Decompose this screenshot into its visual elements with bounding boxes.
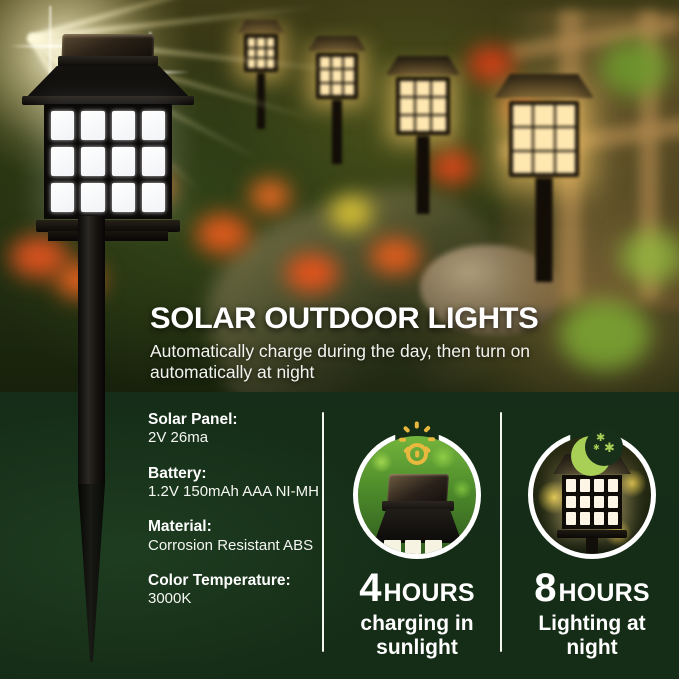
sun-icon <box>395 432 439 476</box>
foliage-blur <box>600 40 670 96</box>
spec-value: Corrosion Resistant ABS <box>148 537 328 555</box>
headline-block: SOLAR OUTDOOR LIGHTS Automatically charg… <box>150 303 650 384</box>
page-title: SOLAR OUTDOOR LIGHTS <box>150 303 665 335</box>
foliage-blur <box>620 230 679 284</box>
flower-blur <box>250 180 290 212</box>
spec-value: 3000K <box>148 590 328 608</box>
spec-label: Battery: <box>148 464 328 483</box>
spec-item: Material: Corrosion Resistant ABS <box>148 517 328 555</box>
lantern-glass-grid <box>44 104 172 219</box>
page-subtitle: Automatically charge during the day, the… <box>150 341 550 385</box>
spec-value: 2V 26ma <box>148 429 328 447</box>
spec-item: Battery: 1.2V 150mAh AAA NI-MH <box>148 464 328 502</box>
flower-blur <box>330 196 372 230</box>
spec-value: 1.2V 150mAh AAA NI-MH <box>148 483 328 501</box>
feature-caption: Lighting at night <box>512 612 672 659</box>
duration-unit: HOURS <box>383 579 474 607</box>
feature-lighting: ✱ ✱ ✱ 8HOURS Lighting at night <box>512 406 672 659</box>
vertical-divider <box>322 412 324 652</box>
spec-label: Solar Panel: <box>148 410 328 429</box>
flower-blur <box>196 214 250 254</box>
vertical-divider <box>500 412 502 652</box>
background-lantern <box>236 20 286 130</box>
flower-blur <box>286 254 338 292</box>
feature-charging: 4HOURS charging in sunlight <box>337 406 497 659</box>
moon-stars-icon: ✱ ✱ ✱ <box>567 432 617 480</box>
spec-list: Solar Panel: 2V 26ma Battery: 1.2V 150mA… <box>148 410 328 625</box>
lantern-base-lower <box>48 231 168 241</box>
feature-photo-circle <box>358 436 476 554</box>
background-lantern <box>306 36 368 166</box>
spec-item: Solar Panel: 2V 26ma <box>148 410 328 448</box>
duration-number: 4 <box>359 566 380 610</box>
feature-duration: 8HOURS <box>512 568 672 608</box>
background-lantern <box>492 74 596 284</box>
background-lantern <box>384 56 462 216</box>
feature-caption: charging in sunlight <box>337 612 497 659</box>
duration-unit: HOURS <box>558 579 649 607</box>
lantern-post <box>78 216 105 486</box>
feature-duration: 4HOURS <box>337 568 497 608</box>
flower-blur <box>370 238 420 274</box>
spec-label: Material: <box>148 517 328 536</box>
spec-label: Color Temperature: <box>148 571 328 590</box>
spec-item: Color Temperature: 3000K <box>148 571 328 609</box>
feature-photo-circle: ✱ ✱ ✱ <box>533 436 651 554</box>
panel-lip <box>58 56 158 67</box>
product-infographic: SOLAR OUTDOOR LIGHTS Automatically charg… <box>0 0 679 679</box>
duration-number: 8 <box>534 566 555 610</box>
